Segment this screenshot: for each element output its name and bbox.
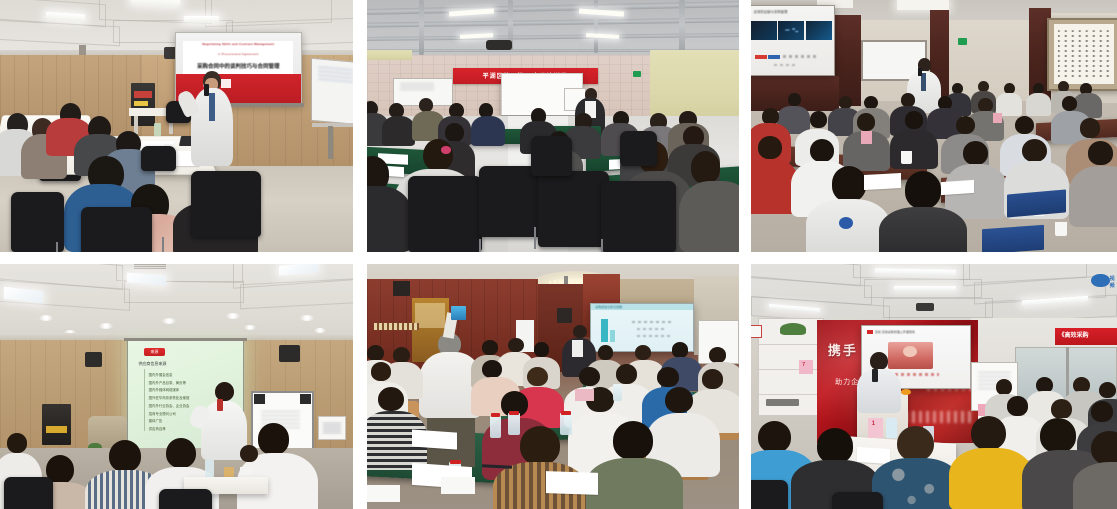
slide-bar [610,330,615,342]
backdrop-sub-text: 助力企 [835,377,859,387]
projector-mount [79,45,86,55]
attendee-head [758,421,791,453]
slide-bullet: 媒体广告 [149,418,163,423]
photo-gallery-grid: Negotiating Skills and Contract Manageme… [0,0,1117,509]
photo-3[interactable]: 全球供应链与采购管理 [751,0,1117,252]
paper-cup [1055,222,1067,236]
necktie [921,73,926,91]
name-card [441,477,474,494]
slide-bar [601,319,607,342]
speaker-head [870,352,888,370]
water-bottle [154,123,161,136]
table-number-text: 7 [802,362,805,368]
table-number-sign [868,418,883,438]
av-cart [42,404,70,446]
slide-title-cn: 全球供应链与采购管理 [753,9,787,14]
microphone [217,399,223,411]
photo-4[interactable]: 来源 供应商信息来源 国内外展会信息 国内外产品目录、黄页等 国内外媒体网络媒体… [0,264,353,509]
calligraphy-scroll [1054,24,1114,83]
chair [408,176,482,252]
attendee-body [879,207,967,252]
water-bottle [886,418,897,438]
ceiling-projector [916,303,934,310]
name-card [367,485,400,502]
slide-bullet: 国内外展会信息 [149,372,173,377]
slide-bullet: 供应商自荐 [149,426,166,431]
exit-sign [633,71,641,77]
microphone [872,369,878,381]
trainer-head [573,325,586,338]
wall-banner-text: 《高效采购 [1058,330,1088,339]
backdrop-main-text: 携手 [828,340,858,359]
microphone [204,84,209,95]
slide-title: 采购成本分析与控制 [595,305,622,309]
photo-2[interactable]: 平湖区第二期...人员培训班 [367,0,739,252]
chair [159,489,212,509]
photo-1[interactable]: Negotiating Skills and Contract Manageme… [0,0,353,252]
water-bottle [205,460,214,477]
necktie [209,93,215,121]
blue-folder [1007,189,1066,217]
chair [751,480,788,509]
downlight [162,318,176,324]
smartphone[interactable] [451,306,466,321]
projection-screen: 全球供应链与采购管理 [751,5,835,76]
attendee-head [897,426,934,462]
chair [832,492,883,509]
slide-title-en-1: Negotiating Skills and Contract Manageme… [183,43,293,47]
air-vent [134,264,166,269]
chair [601,181,675,252]
wall-speaker [85,352,103,367]
slide-bullet: 国内外产品目录、黄页等 [149,380,186,385]
ceiling-projector [486,40,512,50]
slide-bullet: 招商专业顾问公司 [149,411,176,416]
slide-title-en-2: in Procurement Agreement [183,53,293,57]
downlight [226,313,240,319]
table-number-sign [799,360,814,375]
slide-badge-text: 来源 [144,349,165,355]
attendee-head [520,426,561,465]
exit-sign [958,38,968,46]
watermark-text: 视频 [1110,275,1117,289]
wall-speaker [279,345,300,362]
wall-sconce-row [374,323,419,330]
downlight [99,323,113,329]
slide-bullet: 国内外行业协会、企业协会 [149,403,190,408]
paper-cup [901,151,912,164]
microphone [918,68,922,76]
photo-5[interactable]: 采购成本分析与控制 [367,264,739,509]
speaker-body [857,369,901,413]
table-number-text: 1 [872,421,875,427]
water-bottle [490,416,501,438]
blue-folder [982,225,1044,252]
slide-graphic-panel [751,21,777,40]
attendee-head [423,139,453,172]
slide-logo-mark [221,79,231,88]
orange-marker [901,389,911,395]
slide-title-cn: 采购合同中的谈判技巧与合同管理 [181,62,296,70]
chair [191,171,262,237]
ceiling-light-panel [184,16,219,22]
water-bottle [508,413,519,435]
projection-screen: Negotiating Skills and Contract Manageme… [175,32,302,105]
attendee-body [949,448,1033,509]
hair-tie [441,146,450,154]
slide-graphic-panel [806,21,832,40]
no-smoking-sign [751,325,762,337]
slide-bullet: 国内外媒体网络媒体 [149,387,180,392]
chair [538,171,609,247]
plant [780,323,806,335]
chair [4,477,53,509]
ceiling-light-strip [894,286,956,290]
attendee-head [109,440,141,472]
slide-heading: 供应商信息来源 [138,361,166,367]
name-card [575,389,594,401]
downlight [244,325,256,330]
chair [81,207,152,252]
attendee-body [872,458,960,509]
photo-6[interactable]: 视频 《高效采购 7 携手 未来 助力企 [751,264,1117,509]
slide-bullet: 国外驻华商务参赞处及使馆 [149,395,190,400]
wall-speaker [393,281,410,296]
attendee-head [832,166,867,201]
wall-speaker [557,308,572,323]
name-tent [861,131,872,144]
watermark-logo [1091,274,1109,287]
name-tent [993,113,1003,123]
slide-header: 深圳·高效采购管理公开课现场 [875,330,915,334]
water-bottle [613,384,623,401]
slide-accent-square [867,330,872,334]
calligraphy-frame [1047,18,1117,91]
water-bottle [560,413,571,435]
side-wall [650,50,739,121]
